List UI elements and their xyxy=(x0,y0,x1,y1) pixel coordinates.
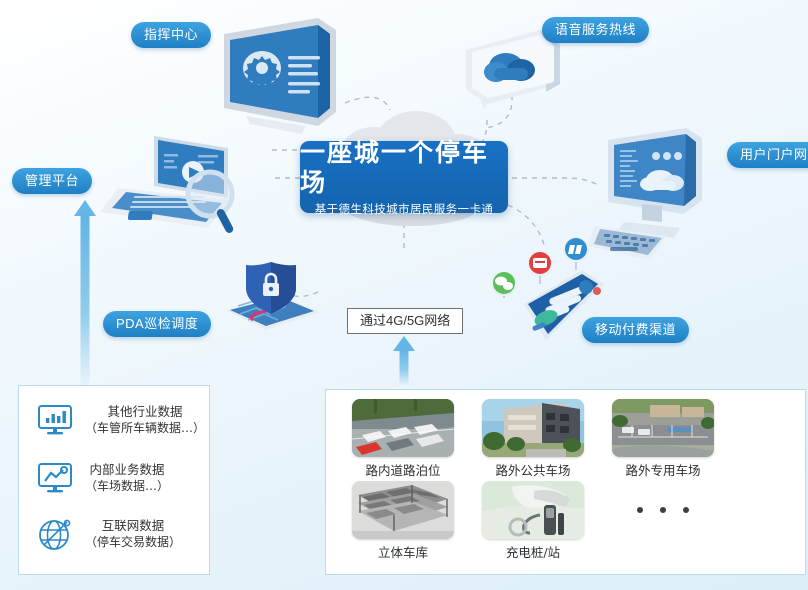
cloud-desktop-device xyxy=(588,126,716,264)
data-source-text: 内部业务数据 （车场数据…） xyxy=(85,461,169,495)
data-source-text: 其他行业数据 （车管所车辆数据…） xyxy=(85,403,205,437)
data-source-row: 互联网数据 （停车交易数据） xyxy=(35,514,181,554)
parking-type-card: 立体车库 xyxy=(348,481,458,561)
parking-types-panel: 路内道路泊位 xyxy=(325,389,806,575)
public-off-street-lot-photo xyxy=(482,399,584,457)
parking-type-caption: 路外专用车场 xyxy=(608,463,718,479)
data-source-title: 内部业务数据 xyxy=(85,461,169,478)
data-source-title: 其他行业数据 xyxy=(85,403,205,420)
label-user-portal: 用户门户网站 xyxy=(727,142,808,168)
label-voice-hotline: 语音服务热线 xyxy=(542,17,649,43)
on-street-parking-photo xyxy=(352,399,454,457)
data-source-detail: （车管所车辆数据…） xyxy=(85,420,205,437)
data-source-detail: （停车交易数据） xyxy=(85,534,181,551)
parking-type-caption: 立体车库 xyxy=(348,545,458,561)
label-network: 通过4G/5G网络 xyxy=(347,308,463,334)
parking-type-card: 路内道路泊位 xyxy=(348,399,458,479)
ev-charging-station-photo xyxy=(482,481,584,539)
parking-type-caption: 充电桩/站 xyxy=(478,545,588,561)
parking-type-card: 路外专用车场 xyxy=(608,399,718,479)
parking-type-caption: 路内道路泊位 xyxy=(348,463,458,479)
banner-subtitle: 基于德生科技城市居民服务一卡通 xyxy=(315,203,494,217)
monitor-line-chart-icon xyxy=(35,458,75,498)
label-management-platform: 管理平台 xyxy=(12,168,92,194)
label-pda-inspection: PDA巡检调度 xyxy=(103,311,211,337)
parking-type-card: 路外公共车场 xyxy=(478,399,588,479)
shield-lock-map-device xyxy=(208,256,334,344)
data-source-detail: （车场数据…） xyxy=(85,478,169,495)
arrow-management-platform xyxy=(74,200,96,390)
data-sources-panel: 其他行业数据 （车管所车辆数据…） 内部业务数据 （车场数据…） xyxy=(18,385,210,575)
data-source-title: 互联网数据 xyxy=(85,517,181,534)
parking-type-card: 充电桩/站 xyxy=(478,481,588,561)
laptop-media-device xyxy=(88,132,268,240)
banner-title: 一座城一个停车场 xyxy=(300,138,508,198)
gear-monitor-device xyxy=(206,16,354,141)
dedicated-off-street-lot-photo xyxy=(612,399,714,457)
label-command-center: 指挥中心 xyxy=(131,22,211,48)
globe-network-icon xyxy=(35,514,75,554)
parking-type-caption: 路外公共车场 xyxy=(478,463,588,479)
infographic-canvas: 指挥中心 语音服务热线 xyxy=(0,0,808,590)
label-mobile-payment: 移动付费渠道 xyxy=(582,317,689,343)
parking-type-card-list: 路内道路泊位 xyxy=(338,399,793,563)
monitor-bar-chart-icon xyxy=(35,400,75,440)
multi-level-garage-photo xyxy=(352,481,454,539)
more-indicator xyxy=(608,481,718,539)
arrow-network-uplink xyxy=(393,336,415,386)
main-banner: 一座城一个停车场 基于德生科技城市居民服务一卡通 xyxy=(300,141,508,213)
payment-icons-group xyxy=(484,236,596,298)
data-source-text: 互联网数据 （停车交易数据） xyxy=(85,517,181,551)
data-source-row: 内部业务数据 （车场数据…） xyxy=(35,458,169,498)
data-source-row: 其他行业数据 （车管所车辆数据…） xyxy=(35,400,205,440)
